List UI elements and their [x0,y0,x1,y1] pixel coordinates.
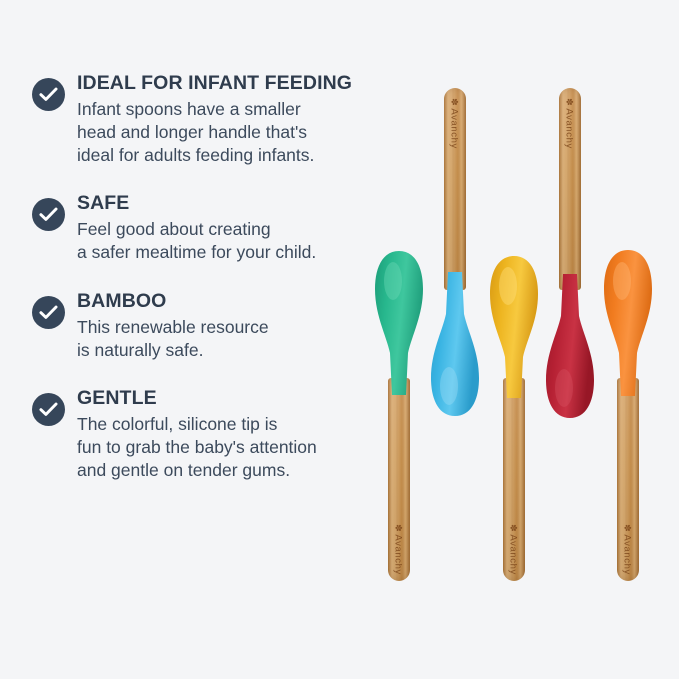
feature-item-safe: SAFE Feel good about creating a safer me… [32,192,377,264]
product-photo: ✽ Avanchy [372,0,679,679]
check-circle-icon [32,296,65,329]
brand-text: Avanchy [508,534,519,574]
silicone-head [489,254,539,400]
brand-engraving: ✽ Avanchy [508,520,519,580]
feature-body: This renewable resource is naturally saf… [77,316,377,362]
feature-item-gentle: GENTLE The colorful, silicone tip is fun… [32,387,377,481]
brand-engraving: ✽ Avanchy [449,94,460,154]
feature-title: SAFE [77,192,377,215]
brand-text: Avanchy [564,108,575,148]
brand-text: Avanchy [449,108,460,148]
bee-mark-icon: ✽ [450,98,460,106]
check-circle-icon [32,393,65,426]
feature-item-bamboo: BAMBOO This renewable resource is natura… [32,290,377,362]
silicone-head [430,270,480,418]
bee-mark-icon: ✽ [623,524,633,532]
brand-text: Avanchy [622,534,633,574]
brand-engraving: ✽ Avanchy [393,520,404,580]
feature-item-ideal-for-infant-feeding: IDEAL FOR INFANT FEEDING Infant spoons h… [32,72,377,166]
feature-body: The colorful, silicone tip is fun to gra… [77,413,377,481]
bee-mark-icon: ✽ [509,524,519,532]
brand-engraving: ✽ Avanchy [622,520,633,580]
check-circle-icon [32,198,65,231]
brand-text: Avanchy [393,534,404,574]
feature-title: GENTLE [77,387,377,410]
feature-list: IDEAL FOR INFANT FEEDING Infant spoons h… [32,72,377,482]
feature-body: Infant spoons have a smaller head and lo… [77,98,377,166]
feature-body: Feel good about creating a safer mealtim… [77,218,377,264]
silicone-head [603,248,653,398]
silicone-head [545,272,595,420]
check-circle-icon [32,78,65,111]
silicone-head [374,249,424,397]
brand-engraving: ✽ Avanchy [564,94,575,154]
feature-title: BAMBOO [77,290,377,313]
bee-mark-icon: ✽ [394,524,404,532]
feature-title: IDEAL FOR INFANT FEEDING [77,72,377,95]
infographic-canvas: IDEAL FOR INFANT FEEDING Infant spoons h… [0,0,679,679]
bee-mark-icon: ✽ [565,98,575,106]
